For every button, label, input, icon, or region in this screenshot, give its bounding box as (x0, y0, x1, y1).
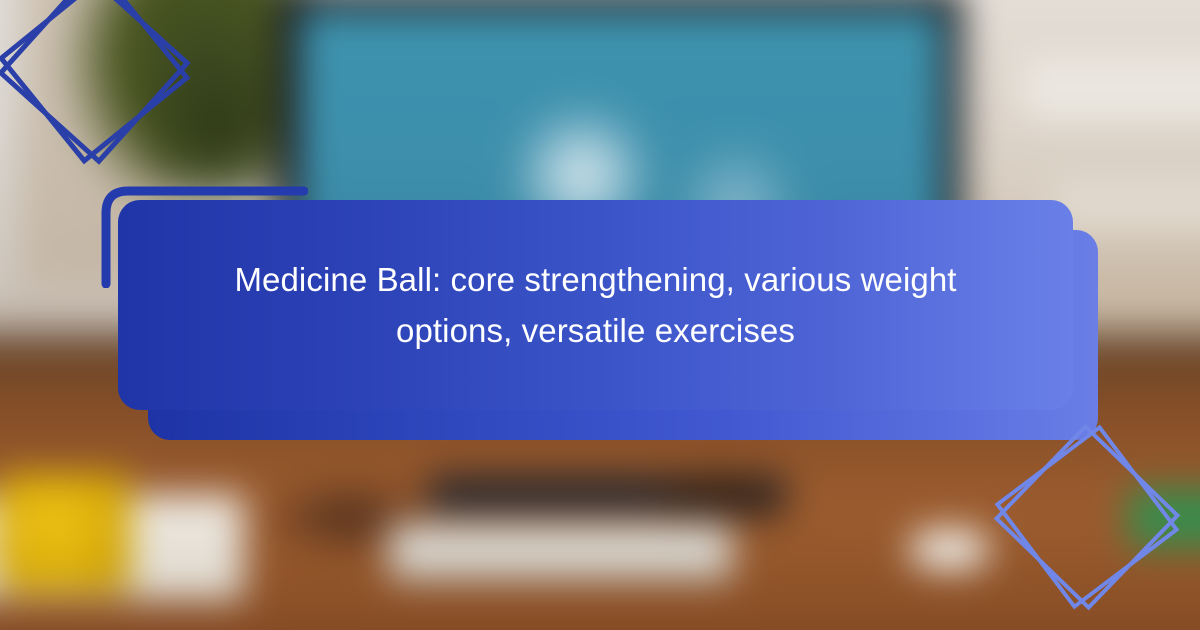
social-card-canvas: Medicine Ball: core strengthening, vario… (0, 0, 1200, 630)
background-shelf-upper (1022, 60, 1200, 120)
background-coffee-mug (0, 473, 131, 593)
background-green-notebook (1128, 488, 1200, 548)
background-desk-object (640, 465, 798, 533)
card-headline-text: Medicine Ball: core strengthening, vario… (231, 254, 961, 356)
background-keyboard (389, 525, 732, 581)
headline-card: Medicine Ball: core strengthening, vario… (118, 200, 1073, 410)
background-mouse (910, 529, 989, 570)
